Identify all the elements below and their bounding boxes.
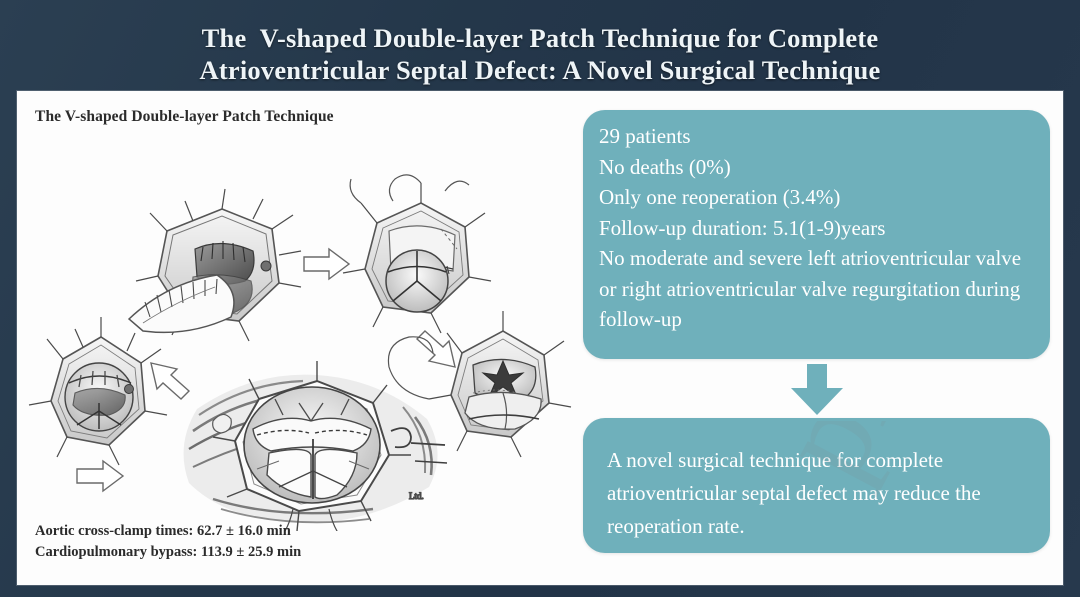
content-panel: The V-shaped Double-layer Patch Techniqu… bbox=[17, 91, 1063, 585]
conclusion-box: A novel surgical technique for complete … bbox=[583, 418, 1050, 553]
stat-cardiopulmonary-bypass: Cardiopulmonary bypass: 113.9 ± 25.9 min bbox=[35, 542, 301, 563]
results-box: 29 patients No deaths (0%) Only one reop… bbox=[583, 110, 1050, 359]
flow-arrow-3 bbox=[151, 363, 189, 399]
result-line-deaths: No deaths (0%) bbox=[599, 152, 1034, 183]
conclusion-text: A novel surgical technique for complete … bbox=[607, 444, 1026, 543]
result-line-regurgitation: No moderate and severe left atrioventric… bbox=[599, 243, 1034, 335]
flow-arrow-4 bbox=[77, 461, 123, 491]
surgical-illustration-svg: Ltd. bbox=[17, 131, 592, 531]
result-line-patients: 29 patients bbox=[599, 121, 1034, 152]
page-title-line-1: The V-shaped Double-layer Patch Techniqu… bbox=[0, 22, 1080, 54]
result-line-followup: Follow-up duration: 5.1(1-9)years bbox=[599, 213, 1034, 244]
stat-aortic-cross-clamp: Aortic cross-clamp times: 62.7 ± 16.0 mi… bbox=[35, 521, 301, 542]
down-arrow-icon bbox=[788, 364, 846, 416]
illustration-step-2 bbox=[343, 175, 491, 333]
page-title-line-2: Atrioventricular Septal Defect: A Novel … bbox=[0, 54, 1080, 86]
illustrator-signature: Ltd. bbox=[409, 491, 424, 501]
figure-caption: The V-shaped Double-layer Patch Techniqu… bbox=[35, 108, 334, 126]
illustration-step-1 bbox=[129, 189, 301, 341]
graphical-abstract-page: The V-shaped Double-layer Patch Techniqu… bbox=[0, 0, 1080, 597]
flow-arrow-1 bbox=[304, 249, 349, 279]
page-title: The V-shaped Double-layer Patch Techniqu… bbox=[0, 22, 1080, 86]
illustration-central-repair: Ltd. bbox=[184, 361, 447, 531]
operative-statistics: Aortic cross-clamp times: 62.7 ± 16.0 mi… bbox=[35, 521, 301, 563]
result-line-reoperation: Only one reoperation (3.4%) bbox=[599, 182, 1034, 213]
illustration-step-4 bbox=[29, 317, 167, 465]
surgical-illustration-figure: Ltd. bbox=[17, 131, 592, 531]
